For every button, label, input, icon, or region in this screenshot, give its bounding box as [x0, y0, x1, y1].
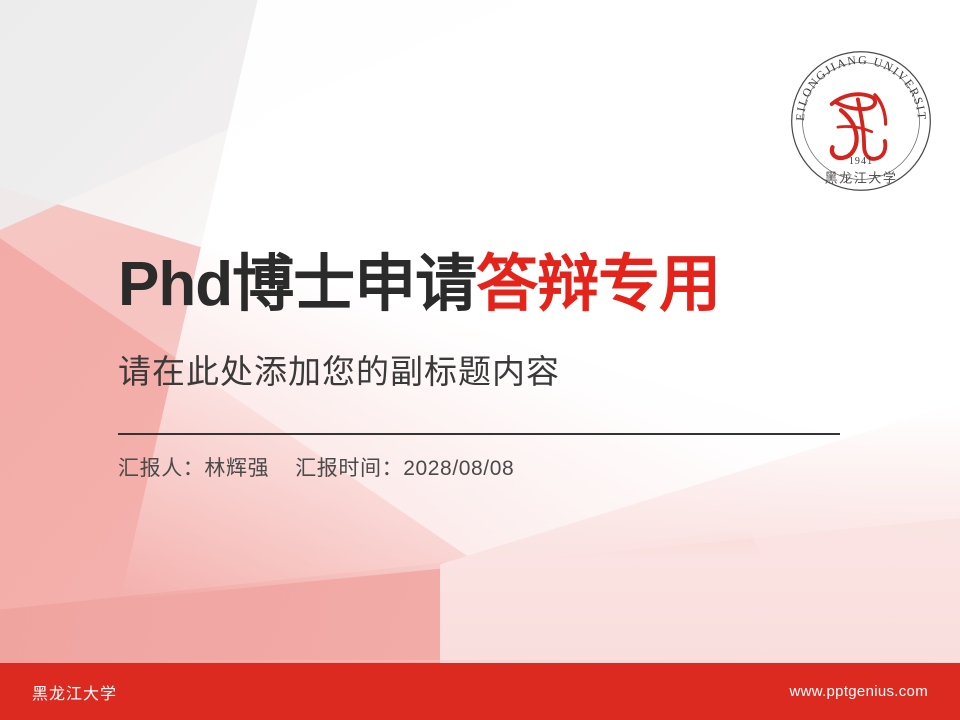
presenter-label: 汇报人：林辉强: [118, 457, 269, 480]
university-logo: HEILONGJIANG UNIVERSITY 1941 黑龙江大学: [784, 44, 938, 198]
title-accent-text: 答辩专用: [476, 250, 720, 319]
presentation-slide: HEILONGJIANG UNIVERSITY 1941 黑龙江大学 Phd博士…: [0, 0, 960, 720]
svg-text:1941: 1941: [849, 156, 873, 167]
svg-text:黑龙江大学: 黑龙江大学: [824, 171, 897, 187]
presentation-meta: 汇报人：林辉强汇报时间：2028/08/08: [118, 452, 514, 482]
footer-bar: 黑龙江大学 www.pptgenius.com: [0, 663, 960, 720]
background-hairline: [0, 660, 960, 662]
title-divider: [118, 433, 840, 435]
page-subtitle: 请在此处添加您的副标题内容: [118, 345, 560, 393]
footer-website-link[interactable]: www.pptgenius.com: [790, 683, 929, 700]
footer-university-name: 黑龙江大学: [32, 680, 117, 704]
page-title: Phd博士申请答辩专用: [118, 252, 720, 317]
report-date-label: 汇报时间：2028/08/08: [295, 457, 514, 480]
title-primary-text: Phd博士申请: [118, 250, 476, 319]
